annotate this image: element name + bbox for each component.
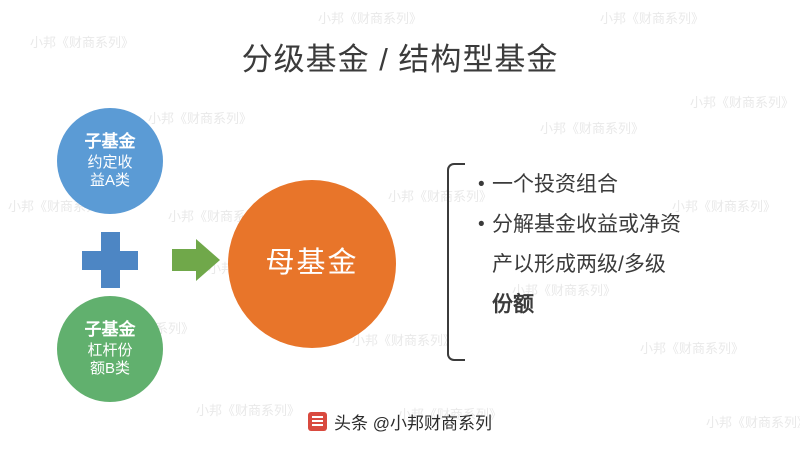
curly-bracket-icon — [447, 163, 465, 361]
node-child-fund-b: 子基金 杠杆份 额B类 — [57, 296, 163, 402]
watermark-text: 小邦《财商系列》 — [388, 186, 492, 205]
bullet-marker-icon: • — [478, 168, 492, 202]
watermark-text: 小邦《财商系列》 — [318, 8, 422, 27]
watermark-text: 小邦《财商系列》 — [690, 92, 794, 111]
footer-credit: 头条 @小邦财商系列 — [0, 409, 800, 434]
bullet-item: 份额 — [478, 288, 768, 322]
watermark-text: 小邦《财商系列》 — [352, 330, 456, 349]
right-arrow-icon — [172, 239, 220, 281]
node-child-fund-b-line1: 杠杆份 — [87, 342, 132, 360]
bullet-item-text: 一个投资组合 — [492, 168, 618, 202]
bullet-item-text: 份额 — [492, 288, 534, 322]
node-parent-fund: 母基金 — [228, 180, 396, 348]
arrow-head — [196, 239, 220, 281]
toutiao-logo-icon — [308, 412, 327, 431]
bullet-item: 产以形成两级/多级 — [478, 248, 768, 282]
node-child-fund-a-head: 子基金 — [85, 132, 136, 153]
node-child-fund-b-head: 子基金 — [85, 320, 136, 341]
bullet-item: •分解基金收益或净资 — [478, 208, 768, 242]
watermark-text: 小邦《财商系列》 — [540, 118, 644, 137]
plus-sign-icon — [82, 232, 138, 288]
node-child-fund-b-line2: 额B类 — [90, 360, 130, 378]
node-child-fund-a-line1: 约定收 — [87, 154, 132, 172]
arrow-shaft — [172, 249, 197, 271]
watermark-text: 小邦《财商系列》 — [600, 8, 704, 27]
bullet-item: •一个投资组合 — [478, 168, 768, 202]
footer-credit-text: 头条 @小邦财商系列 — [334, 409, 492, 434]
watermark-text: 小邦《财商系列》 — [640, 338, 744, 357]
bullet-marker-icon: • — [478, 208, 492, 242]
bullet-item-text: 产以形成两级/多级 — [492, 248, 666, 282]
bullet-list: •一个投资组合•分解基金收益或净资产以形成两级/多级份额 — [478, 168, 768, 328]
slide-canvas: 小邦《财商系列》小邦《财商系列》小邦《财商系列》小邦《财商系列》小邦《财商系列》… — [0, 0, 800, 450]
plus-bar-vertical — [101, 232, 120, 288]
watermark-text: 小邦《财商系列》 — [148, 108, 252, 127]
node-child-fund-a-line2: 益A类 — [90, 172, 130, 190]
node-parent-fund-label: 母基金 — [265, 246, 358, 281]
bullet-item-text: 分解基金收益或净资 — [492, 208, 681, 242]
page-title: 分级基金 / 结构型基金 — [0, 34, 800, 79]
node-child-fund-a: 子基金 约定收 益A类 — [57, 108, 163, 214]
